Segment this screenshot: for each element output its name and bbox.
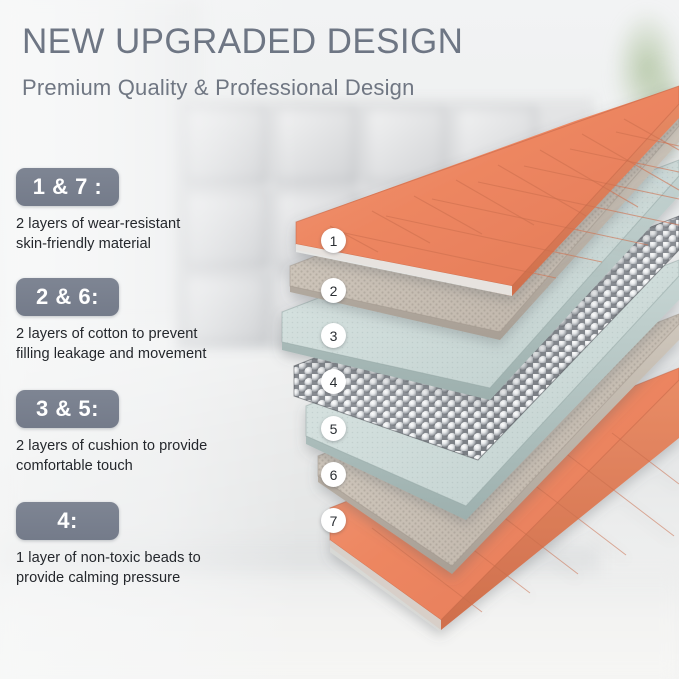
layer-marker-6: 6 xyxy=(321,462,346,487)
header: NEW UPGRADED DESIGN Premium Quality & Pr… xyxy=(22,22,662,101)
feature-description-1-and-7: 2 layers of wear-resistant skin-friendly… xyxy=(16,214,278,254)
feature-description-3-and-5: 2 layers of cushion to provide comfortab… xyxy=(16,436,278,476)
layer-marker-4: 4 xyxy=(321,369,346,394)
feature-item-2-and-6: 2 & 6: 2 layers of cotton to prevent fil… xyxy=(16,278,278,364)
layer-marker-2-label: 2 xyxy=(330,283,338,299)
feature-item-4: 4: 1 layer of non-toxic beads to provide… xyxy=(16,502,278,588)
layer-marker-1: 1 xyxy=(321,228,346,253)
feature-item-1-and-7: 1 & 7 : 2 layers of wear-resistant skin-… xyxy=(16,168,278,254)
feature-badge-4: 4: xyxy=(16,502,119,540)
layer-marker-7-label: 7 xyxy=(330,513,338,529)
layer-marker-5-label: 5 xyxy=(330,421,338,437)
layer-marker-3-label: 3 xyxy=(330,328,338,344)
layer-marker-3: 3 xyxy=(321,323,346,348)
layer-marker-4-label: 4 xyxy=(330,374,338,390)
feature-badge-2-and-6: 2 & 6: xyxy=(16,278,119,316)
feature-description-4: 1 layer of non-toxic beads to provide ca… xyxy=(16,548,278,588)
layer-marker-5: 5 xyxy=(321,416,346,441)
page-title: NEW UPGRADED DESIGN xyxy=(22,22,662,62)
layer-marker-6-label: 6 xyxy=(330,467,338,483)
layer-marker-7: 7 xyxy=(321,508,346,533)
layer-marker-2: 2 xyxy=(321,278,346,303)
infographic-canvas: 1 2 3 4 5 6 7 NEW UPGRADED DESIGN Premiu… xyxy=(0,0,679,679)
feature-item-3-and-5: 3 & 5: 2 layers of cushion to provide co… xyxy=(16,390,278,476)
feature-description-2-and-6: 2 layers of cotton to prevent filling le… xyxy=(16,324,278,364)
page-subtitle: Premium Quality & Professional Design xyxy=(22,75,662,101)
feature-list: 1 & 7 : 2 layers of wear-resistant skin-… xyxy=(16,168,278,610)
feature-badge-3-and-5: 3 & 5: xyxy=(16,390,119,428)
feature-badge-1-and-7: 1 & 7 : xyxy=(16,168,119,206)
layer-marker-1-label: 1 xyxy=(330,233,338,249)
